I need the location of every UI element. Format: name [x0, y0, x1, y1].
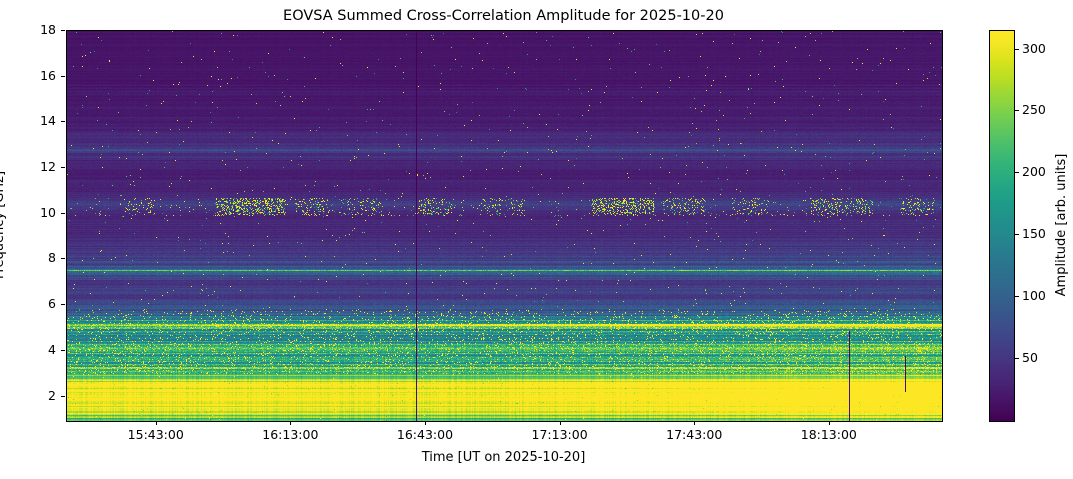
colorbar-tick-label: 150	[1022, 227, 1046, 241]
y-tick-label: 8	[26, 251, 56, 265]
spectrogram-figure: EOVSA Summed Cross-Correlation Amplitude…	[0, 0, 1073, 479]
colorbar-tick-label: 300	[1022, 42, 1046, 56]
y-tick-label: 4	[26, 343, 56, 357]
y-tick-label: 18	[26, 23, 56, 37]
colorbar-tick-mark	[1015, 110, 1019, 111]
y-tick-mark	[61, 213, 65, 214]
colorbar-tick-mark	[1015, 49, 1019, 50]
colorbar-tick-mark	[1015, 172, 1019, 173]
x-tick-label: 16:13:00	[262, 428, 318, 442]
x-tick-label: 16:43:00	[397, 428, 453, 442]
x-tick-mark	[425, 421, 426, 425]
colorbar-tick-mark	[1015, 358, 1019, 359]
y-tick-label: 10	[26, 206, 56, 220]
spectrogram-image	[67, 31, 942, 421]
colorbar-tick-label: 50	[1022, 351, 1038, 365]
page-title: EOVSA Summed Cross-Correlation Amplitude…	[66, 6, 941, 26]
y-tick-label: 12	[26, 160, 56, 174]
colorbar-tick-label: 250	[1022, 103, 1046, 117]
x-tick-label: 18:13:00	[801, 428, 857, 442]
colorbar-tick-label: 100	[1022, 289, 1046, 303]
colorbar-label: Amplitude [arb. units]	[1054, 154, 1070, 297]
y-tick-mark	[61, 121, 65, 122]
colorbar[interactable]	[989, 30, 1015, 422]
x-tick-mark	[694, 421, 695, 425]
y-tick-mark	[61, 304, 65, 305]
colorbar-tick-mark	[1015, 234, 1019, 235]
y-tick-label: 6	[26, 297, 56, 311]
y-axis-label-text: Frequency [GHz]	[0, 171, 8, 279]
colorbar-tick-mark	[1015, 296, 1019, 297]
y-axis-label: Frequency [GHz]	[0, 171, 8, 279]
y-tick-mark	[61, 30, 65, 31]
x-tick-label: 15:43:00	[128, 428, 184, 442]
y-tick-label: 16	[26, 69, 56, 83]
y-tick-mark	[61, 76, 65, 77]
x-tick-mark	[290, 421, 291, 425]
colorbar-gradient	[990, 31, 1014, 421]
y-tick-label: 2	[26, 389, 56, 403]
spectrogram-plot-area[interactable]	[66, 30, 943, 422]
x-tick-mark	[829, 421, 830, 425]
x-tick-mark	[560, 421, 561, 425]
y-tick-label: 14	[26, 114, 56, 128]
y-tick-mark	[61, 167, 65, 168]
x-tick-label: 17:13:00	[532, 428, 588, 442]
x-axis-label: Time [UT on 2025-10-20]	[66, 450, 941, 466]
y-tick-mark	[61, 258, 65, 259]
y-tick-mark	[61, 350, 65, 351]
y-tick-mark	[61, 396, 65, 397]
colorbar-tick-label: 200	[1022, 165, 1046, 179]
x-tick-label: 17:43:00	[666, 428, 722, 442]
x-tick-mark	[156, 421, 157, 425]
